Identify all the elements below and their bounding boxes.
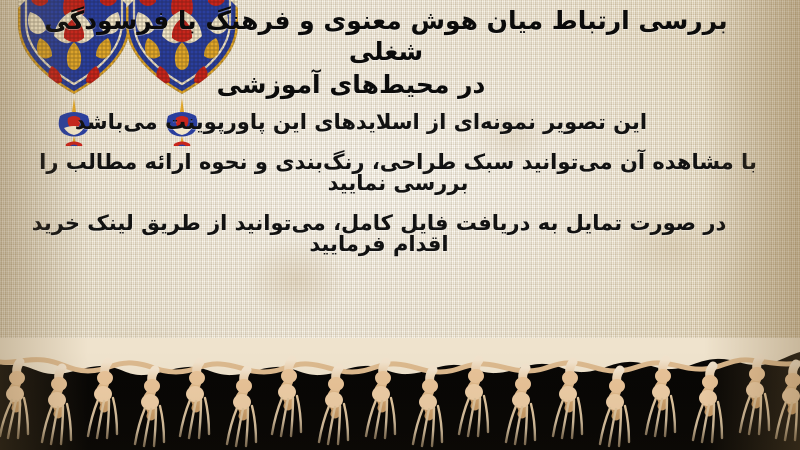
tassel bbox=[740, 358, 769, 434]
tassel bbox=[0, 362, 28, 438]
tassel bbox=[227, 370, 256, 446]
title-line-2: در محیط‌های آموزشی bbox=[20, 70, 782, 101]
tassel bbox=[42, 368, 71, 444]
tassel bbox=[506, 368, 535, 444]
body-line-3: در صورت تمایل به دریافت فایل کامل، می‌تو… bbox=[16, 213, 784, 255]
presentation-slide: بررسی ارتباط میان هوش معنوی و فرهنگ با ف… bbox=[0, 0, 800, 450]
tassel bbox=[600, 370, 629, 446]
tassel bbox=[366, 362, 395, 438]
body-line-1: این تصویر نمونه‌ای از اسلایدهای این پاور… bbox=[16, 112, 784, 133]
title-line-1: بررسی ارتباط میان هوش معنوی و فرهنگ با ف… bbox=[20, 6, 782, 67]
carpet-tassel-fringe bbox=[0, 338, 800, 450]
tassel bbox=[413, 370, 442, 446]
slide-body: این تصویر نمونه‌ای از اسلایدهای این پاور… bbox=[16, 112, 784, 274]
fringe-tassels-icon bbox=[0, 338, 800, 450]
tassel bbox=[646, 360, 675, 436]
tassel bbox=[319, 368, 348, 444]
slide-title: بررسی ارتباط میان هوش معنوی و فرهنگ با ف… bbox=[20, 6, 782, 101]
tassel bbox=[553, 362, 582, 438]
tassel bbox=[88, 362, 117, 438]
body-line-2: با مشاهده آن می‌توانید سبک طراحی، رنگ‌بن… bbox=[16, 152, 784, 194]
tassel bbox=[776, 364, 800, 440]
tassel bbox=[693, 366, 722, 442]
tassel bbox=[135, 370, 164, 446]
